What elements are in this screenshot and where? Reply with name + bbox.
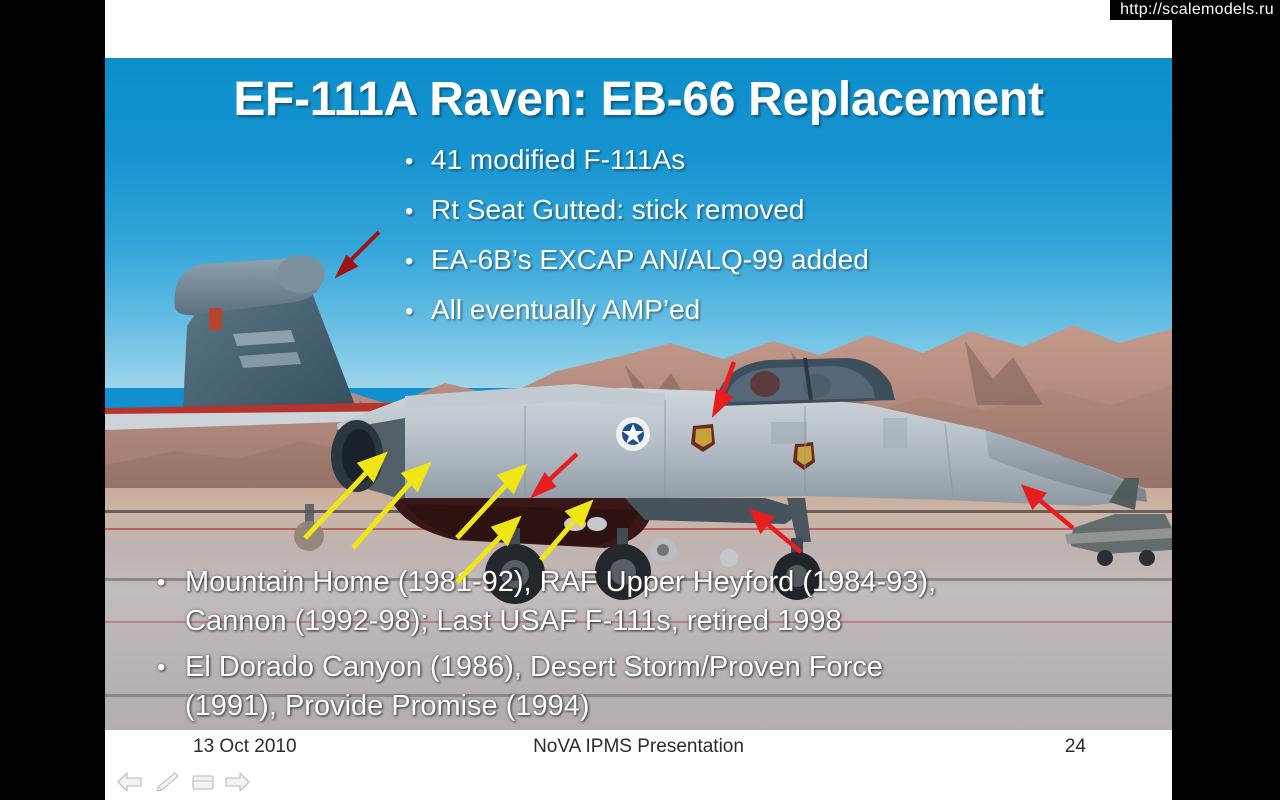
annotation-arrow-yellow-2 <box>349 458 433 552</box>
bullet-dot-icon: • <box>405 138 431 186</box>
bullet-dot-icon: • <box>157 563 185 602</box>
bullet-text: All eventually AMP’ed <box>431 286 700 334</box>
slide-top-margin <box>105 0 1172 58</box>
presentation-viewer: http://scalemodels.ru <box>0 0 1280 800</box>
slide-menu-icon[interactable] <box>189 770 217 794</box>
slide-title: EF-111A Raven: EB-66 Replacement <box>105 72 1172 127</box>
slide-footer: 13 Oct 2010 NoVA IPMS Presentation 24 <box>105 730 1172 765</box>
footer-presentation-title: NoVA IPMS Presentation <box>105 736 1172 758</box>
bullet-item: • All eventually AMP’ed <box>405 286 869 336</box>
bullet-dot-icon: • <box>157 648 185 687</box>
bullet-dot-icon: • <box>405 238 431 286</box>
bottom-bullet-list: • Mountain Home (1981-92), RAF Upper Hey… <box>157 563 1157 730</box>
bullet-text: Mountain Home (1981-92), RAF Upper Heyfo… <box>185 563 936 641</box>
slideshow-nav-bar <box>105 765 1172 800</box>
annotation-arrow-red-dorsal-antenna <box>701 358 747 414</box>
bullet-text: EA-6B’s EXCAP AN/ALQ-99 added <box>431 236 869 284</box>
slide-canvas: EF-111A Raven: EB-66 Replacement • 41 mo… <box>105 0 1172 765</box>
slide-photo: EF-111A Raven: EB-66 Replacement • 41 mo… <box>105 58 1172 730</box>
bullet-item: • El Dorado Canyon (1986), Desert Storm/… <box>157 648 1157 726</box>
annotation-arrow-red-tail-fairing <box>333 226 387 280</box>
bullet-dot-icon: • <box>405 288 431 336</box>
previous-slide-icon[interactable] <box>116 770 144 794</box>
footer-page-number: 24 <box>1065 736 1086 758</box>
next-slide-icon[interactable] <box>223 770 251 794</box>
bullet-line: Mountain Home (1981-92), RAF Upper Heyfo… <box>185 563 936 602</box>
bullet-item: • 41 modified F-111As <box>405 136 869 186</box>
bullet-item: • Mountain Home (1981-92), RAF Upper Hey… <box>157 563 1157 641</box>
annotation-arrow-red-forward-fairing <box>527 448 583 500</box>
bullet-item: • EA-6B’s EXCAP AN/ALQ-99 added <box>405 236 869 286</box>
bullet-line: (1991), Provide Promise (1994) <box>185 687 883 726</box>
bullet-dot-icon: • <box>405 188 431 236</box>
bullet-line: Cannon (1992-98); Last USAF F-111s, reti… <box>185 602 936 641</box>
top-bullet-list: • 41 modified F-111As • Rt Seat Gutted: … <box>405 136 869 336</box>
bullet-text: 41 modified F-111As <box>431 136 685 184</box>
bullet-text: Rt Seat Gutted: stick removed <box>431 186 805 234</box>
pen-annotate-icon[interactable] <box>153 770 181 794</box>
annotation-arrow-yellow-4 <box>453 514 523 586</box>
bullet-item: • Rt Seat Gutted: stick removed <box>405 186 869 236</box>
site-watermark: http://scalemodels.ru <box>1110 0 1280 20</box>
annotation-arrow-red-ventral-antenna <box>745 506 807 558</box>
annotation-arrow-red-aft-antenna <box>1017 482 1079 534</box>
bullet-text: El Dorado Canyon (1986), Desert Storm/Pr… <box>185 648 883 726</box>
annotation-arrow-yellow-5 <box>535 498 595 564</box>
bullet-line: El Dorado Canyon (1986), Desert Storm/Pr… <box>185 648 883 687</box>
